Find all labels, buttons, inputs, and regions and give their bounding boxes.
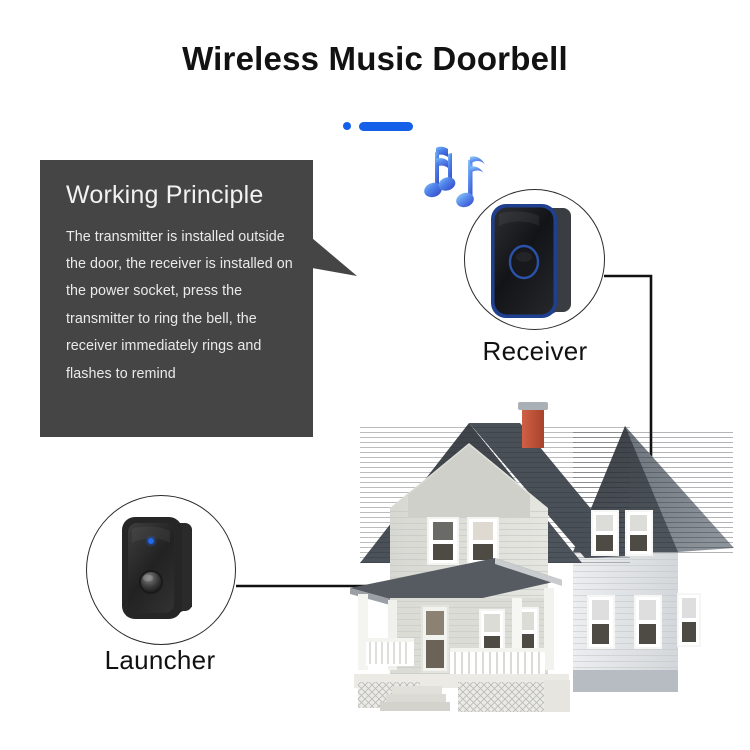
receiver-label: Receiver: [435, 336, 635, 367]
page-title: Wireless Music Doorbell: [0, 40, 750, 78]
working-principle-body: The transmitter is installed outside the…: [66, 224, 293, 389]
speech-bubble-tail-icon: [312, 238, 357, 282]
signal-bar-icon: [359, 122, 413, 131]
working-principle-panel: Working Principle The transmitter is ins…: [40, 160, 313, 437]
launcher-device-image: [118, 513, 206, 623]
receiver-device-image: [485, 200, 585, 322]
launcher-label: Launcher: [60, 645, 260, 676]
house-illustration: [330, 398, 734, 728]
infographic-page: Wireless Music Doorbell: [0, 0, 750, 750]
signal-dot-icon: [343, 122, 351, 130]
signal-dash-icon: [343, 120, 413, 132]
working-principle-heading: Working Principle: [66, 182, 293, 210]
